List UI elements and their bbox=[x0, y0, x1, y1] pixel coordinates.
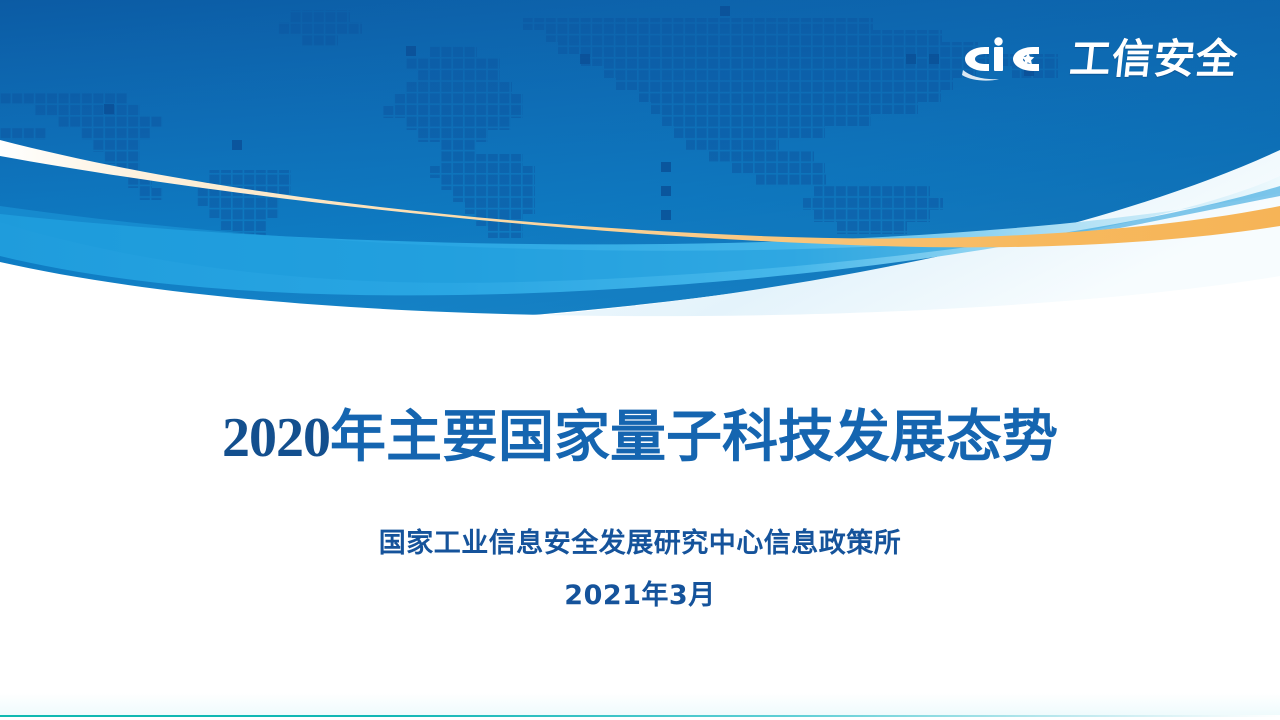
organization-line: 国家工业信息安全发展研究中心信息政策所 bbox=[0, 526, 1280, 562]
title-year: 2020 bbox=[222, 407, 330, 469]
logo-chinese-text: 工信安全 bbox=[1068, 36, 1241, 82]
title-rest: 年主要国家量子科技发展态势 bbox=[330, 405, 1058, 470]
bottom-accent-rule bbox=[0, 715, 1280, 717]
title-slide: 工信安全 2020年主要国家量子科技发展态势 国家工业信息安全发展研究中心信息政… bbox=[0, 0, 1280, 720]
date-line: 2021年3月 bbox=[0, 578, 1280, 614]
bottom-wash bbox=[0, 693, 1280, 715]
page-title: 2020年主要国家量子科技发展态势 bbox=[0, 404, 1280, 472]
cic-logo: 工信安全 bbox=[959, 30, 1238, 88]
cic-wordmark-icon bbox=[959, 36, 1061, 82]
